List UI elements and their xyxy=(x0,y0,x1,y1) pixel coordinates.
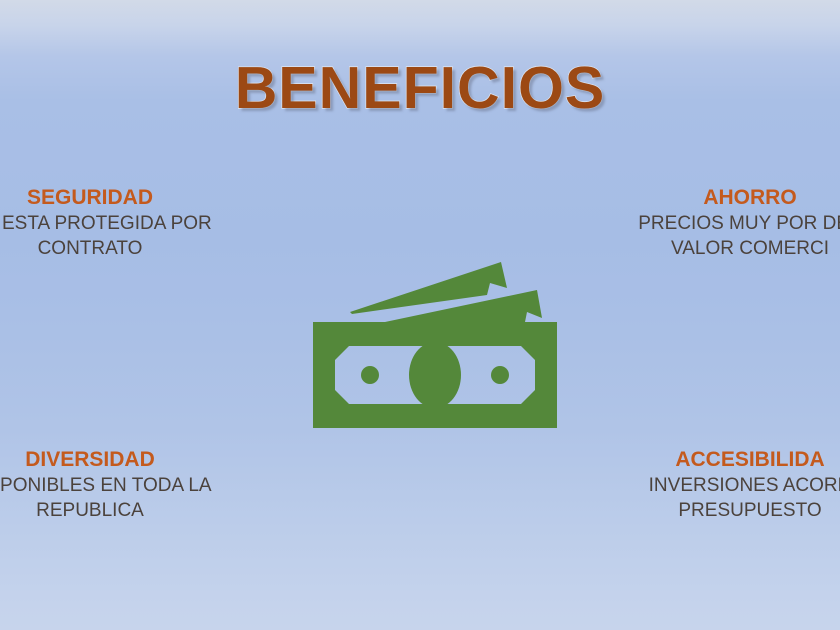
benefit-body-line2-accesibilidad: PRESUPUESTO xyxy=(600,499,840,524)
benefit-body-line1-diversidad: DISPONIBLES EN TODA LA xyxy=(0,474,240,499)
benefit-body-line1-accesibilidad: INVERSIONES ACORD xyxy=(600,474,840,499)
benefit-heading-seguridad: SEGURIDAD xyxy=(0,185,240,212)
benefit-body-line2-diversidad: REPUBLICA xyxy=(0,499,240,524)
benefit-heading-accesibilidad: ACCESIBILIDA xyxy=(600,447,840,474)
page-title: BENEFICIOS xyxy=(0,58,840,120)
benefit-body-line1-seguridad: ON ESTA PROTEGIDA POR xyxy=(0,212,240,237)
benefit-body-line1-ahorro: PRECIOS MUY POR DEB xyxy=(600,212,840,237)
benefit-heading-ahorro: AHORRO xyxy=(600,185,840,212)
money-banknote-icon xyxy=(305,250,565,435)
benefit-block-accesibilidad: ACCESIBILIDA INVERSIONES ACORD PRESUPUES… xyxy=(600,447,840,523)
benefit-block-seguridad: SEGURIDAD ON ESTA PROTEGIDA POR CONTRATO xyxy=(0,185,240,261)
benefit-heading-diversidad: DIVERSIDAD xyxy=(0,447,240,474)
slide-canvas: BENEFICIOS SEGURIDAD ON ESTA PROTEGIDA P… xyxy=(0,0,840,630)
benefit-body-line2-ahorro: VALOR COMERCI xyxy=(600,237,840,262)
benefit-body-line2-seguridad: CONTRATO xyxy=(0,237,240,262)
benefit-block-diversidad: DIVERSIDAD DISPONIBLES EN TODA LA REPUBL… xyxy=(0,447,240,523)
benefit-block-ahorro: AHORRO PRECIOS MUY POR DEB VALOR COMERCI xyxy=(600,185,840,261)
